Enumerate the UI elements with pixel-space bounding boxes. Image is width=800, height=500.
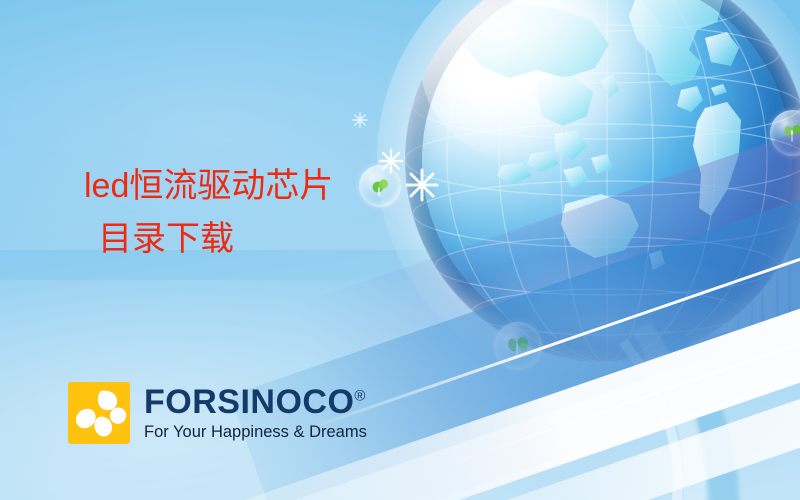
brand-name-text: FORSINOCO [144,383,354,421]
brand-logo: FORSINOCO® For Your Happiness & Dreams [68,382,367,444]
brand-name: FORSINOCO® [144,385,367,419]
brand-tagline: For Your Happiness & Dreams [144,424,367,441]
headline-line-1: led恒流驱动芯片 [84,160,333,213]
headline: led恒流驱动芯片 目录下载 [84,160,333,265]
globe-sphere [405,0,800,362]
registered-trademark-icon: ® [354,388,366,405]
headline-line-2: 目录下载 [84,213,333,266]
four-petal-pinwheel-icon [68,382,130,444]
banner-image: led恒流驱动芯片 目录下载 FORSINOCO® For Your Happi… [0,0,800,500]
sparkle-starburst-icon [352,112,368,133]
globe-illustration [405,0,800,362]
brand-text: FORSINOCO® For Your Happiness & Dreams [144,385,367,441]
